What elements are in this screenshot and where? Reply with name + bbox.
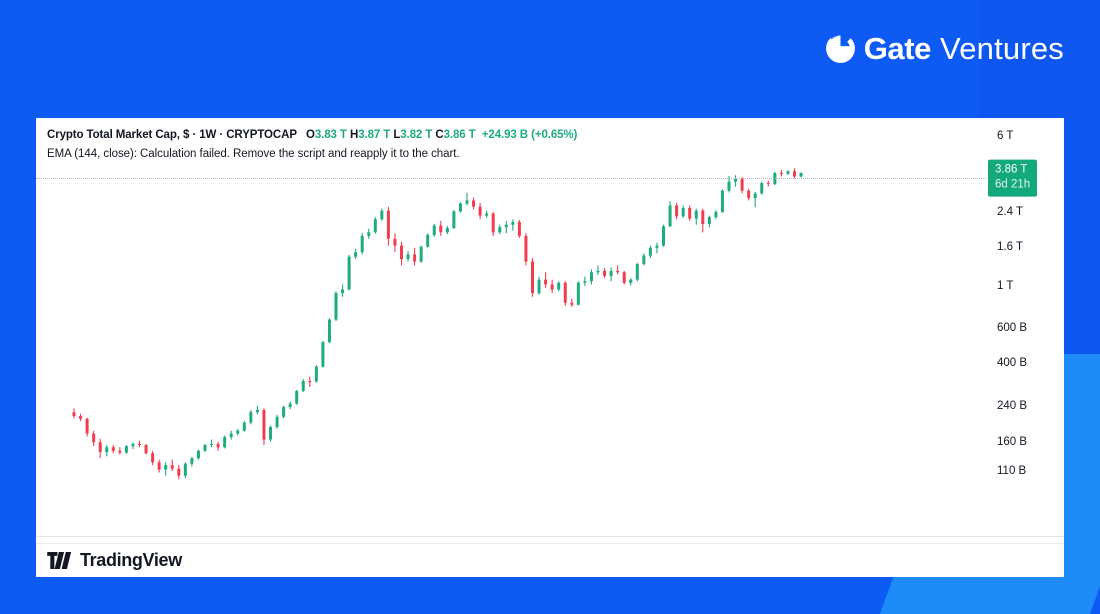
price-tick: 240 B bbox=[997, 400, 1027, 412]
ohlc-close: C3.86 T bbox=[435, 129, 475, 141]
price-tick: 400 B bbox=[997, 357, 1027, 369]
brand-name-ventures: Ventures bbox=[940, 33, 1064, 64]
gate-circle-icon bbox=[826, 34, 855, 63]
current-price-value: 3.86 T bbox=[995, 163, 1030, 178]
chart-legend: Crypto Total Market Cap, $ · 1W · CRYPTO… bbox=[47, 127, 577, 162]
legend-separator-1: · bbox=[192, 129, 196, 141]
symbol-title: Crypto Total Market Cap, $ bbox=[47, 129, 189, 141]
tradingview-mark-icon bbox=[47, 552, 73, 569]
price-tick: 110 B bbox=[997, 465, 1026, 477]
bar-close-countdown: 6d 21h bbox=[995, 178, 1030, 193]
chart-body: Crypto Total Market Cap, $ · 1W · CRYPTO… bbox=[36, 118, 1064, 536]
ohlc-high: H3.87 T bbox=[350, 129, 390, 141]
brand-header: Gate Ventures bbox=[826, 33, 1064, 64]
current-price-badge: 3.86 T 6d 21h bbox=[988, 160, 1037, 197]
candlestick-series bbox=[36, 118, 986, 536]
tradingview-chart-card: Crypto Total Market Cap, $ · 1W · CRYPTO… bbox=[36, 118, 1064, 577]
price-tick: 2.4 T bbox=[997, 206, 1023, 218]
price-scale[interactable]: 6 T2.4 T1.6 T1 T600 B400 B240 B160 B110 … bbox=[986, 118, 1064, 536]
exchange-label: CRYPTOCAP bbox=[226, 129, 296, 141]
chart-footer: TradingView bbox=[36, 543, 1064, 577]
brand-name-gate: Gate bbox=[864, 33, 931, 64]
plot-area[interactable] bbox=[36, 118, 986, 536]
price-tick: 1 T bbox=[997, 280, 1013, 292]
tradingview-logo[interactable]: TradingView bbox=[47, 550, 182, 571]
price-tick: 160 B bbox=[997, 436, 1027, 448]
price-tick: 6 T bbox=[997, 130, 1013, 142]
ohlc-low: L3.82 T bbox=[393, 129, 432, 141]
legend-separator-2: · bbox=[219, 129, 223, 141]
price-tick: 1.6 T bbox=[997, 241, 1023, 253]
study-status-message[interactable]: EMA (144, close): Calculation failed. Re… bbox=[47, 146, 577, 163]
interval-label[interactable]: 1W bbox=[199, 129, 216, 141]
tradingview-wordmark: TradingView bbox=[80, 550, 182, 571]
ohlc-open: O3.83 T bbox=[306, 129, 347, 141]
price-tick: 600 B bbox=[997, 322, 1027, 334]
current-price-line bbox=[36, 178, 986, 179]
change-value: +24.93 B (+0.65%) bbox=[482, 129, 577, 141]
chart-legend-symbol-row: Crypto Total Market Cap, $ · 1W · CRYPTO… bbox=[47, 127, 577, 144]
